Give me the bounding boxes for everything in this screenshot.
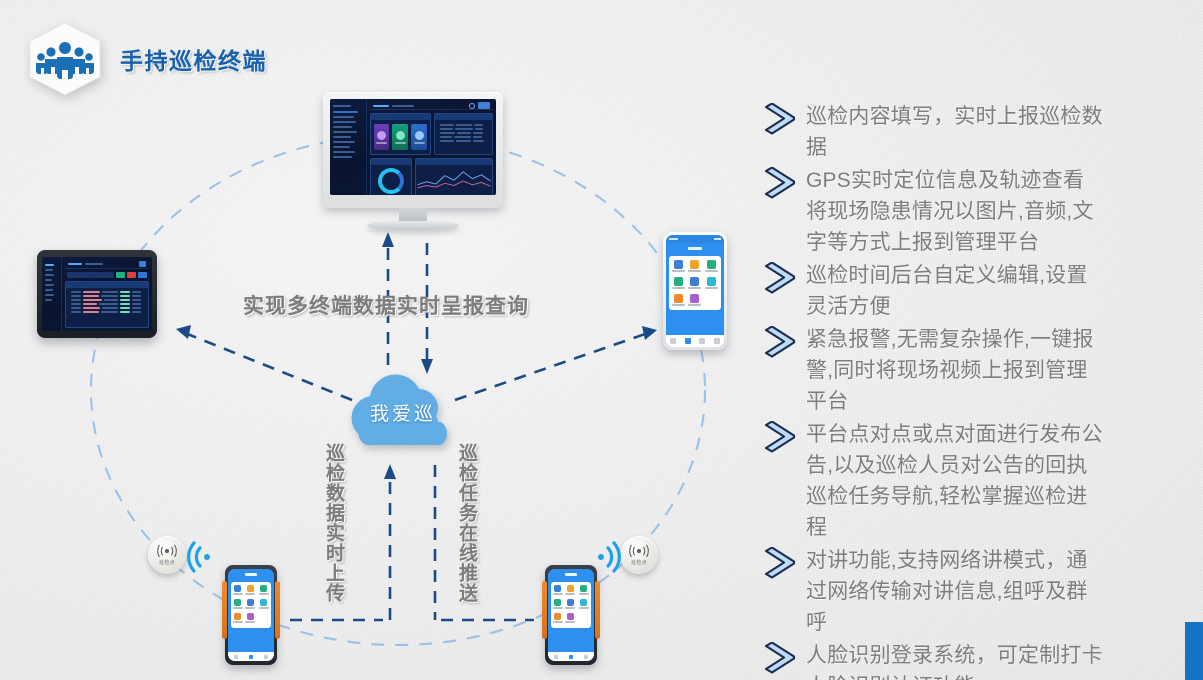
desktop-monitor: [323, 92, 503, 222]
corner-accent-bar: [1185, 622, 1203, 680]
chevron-right-icon: [760, 167, 806, 201]
signal-dot-icon: [627, 544, 651, 558]
chevron-right-icon: [760, 421, 806, 455]
monitor-dashboard-screen: [330, 99, 496, 195]
feature-line: 人脸识别认证功能: [806, 671, 1160, 680]
feature-item: 紧急报警,无需复杂操作,一键报警,同时将现场视频上报到管理平台: [760, 324, 1160, 417]
chevron-right-icon: [760, 262, 806, 296]
rugged-left-screen: [228, 569, 274, 661]
beacon-label: 巡检点: [631, 559, 647, 566]
feature-line: 将现场隐患情况以图片,音频,文: [806, 196, 1160, 227]
feature-text: 紧急报警,无需复杂操作,一键报警,同时将现场视频上报到管理平台: [806, 324, 1160, 417]
slide-canvas: 手持巡检终端: [0, 0, 1203, 680]
smartphone-device: [663, 232, 727, 350]
inspection-point-tag-right: 巡检点: [620, 536, 658, 574]
feature-line: 灵活方便: [806, 291, 1160, 322]
feature-item: 巡检时间后台自定义编辑,设置灵活方便: [760, 260, 1160, 322]
feature-line: 呼: [806, 607, 1160, 638]
feature-text: 巡检内容填写，实时上报巡检数据: [806, 101, 1160, 163]
feature-line: 字等方式上报到管理平台: [806, 227, 1160, 258]
feature-line: 巡检时间后台自定义编辑,设置: [806, 260, 1160, 291]
wifi-wave-icon-left: [186, 540, 220, 574]
feature-item: 平台点对点或点对面进行发布公告,以及巡检人员对公告的回执巡检任务导航,轻松掌握巡…: [760, 419, 1160, 543]
feature-list: 巡检内容填写，实时上报巡检数据 GPS实时定位信息及轨迹查看将现场隐患情况以图片…: [760, 101, 1160, 680]
feature-line: 程: [806, 512, 1160, 543]
rugged-handheld-left: [225, 565, 277, 665]
feature-line: 据: [806, 132, 1160, 163]
feature-item: 对讲功能,支持网络讲模式，通过网络传输对讲信息,组呼及群呼: [760, 545, 1160, 638]
cloud-label: 我爱巡: [343, 399, 463, 426]
feature-text: GPS实时定位信息及轨迹查看将现场隐患情况以图片,音频,文字等方式上报到管理平台: [806, 165, 1160, 258]
feature-item: 巡检内容填写，实时上报巡检数据: [760, 101, 1160, 163]
feature-text: 巡检时间后台自定义编辑,设置灵活方便: [806, 260, 1160, 322]
rugged-handheld-right: [545, 565, 597, 665]
feature-line: 紧急报警,无需复杂操作,一键报: [806, 324, 1160, 355]
link-cloud-phone: [455, 333, 648, 400]
feature-line: 平台: [806, 386, 1160, 417]
beacon-label: 巡检点: [159, 559, 175, 566]
phone-app-grid-screen: [666, 235, 724, 347]
vertical-label-upload: 巡检数据实时上传: [317, 443, 343, 603]
feature-line: 巡检任务导航,轻松掌握巡检进: [806, 481, 1160, 512]
feature-item: 人脸识别登录系统，可定制打卡人脸识别认证功能: [760, 640, 1160, 680]
feature-text: 平台点对点或点对面进行发布公告,以及巡检人员对公告的回执巡检任务导航,轻松掌握巡…: [806, 419, 1160, 543]
feature-text: 对讲功能,支持网络讲模式，通过网络传输对讲信息,组呼及群呼: [806, 545, 1160, 638]
feature-line: 警,同时将现场视频上报到管理: [806, 355, 1160, 386]
inspection-point-tag-left: 巡检点: [148, 536, 186, 574]
tablet-device: [37, 250, 157, 338]
architecture-diagram: 我爱巡 实现多终端数据实时呈报查询 巡检数据实时上传 巡检任务在线推送: [0, 0, 755, 680]
rugged-right-screen: [548, 569, 594, 661]
feature-line: 过网络传输对讲信息,组呼及群: [806, 576, 1160, 607]
chevron-right-icon: [760, 103, 806, 137]
chevron-right-icon: [760, 547, 806, 581]
feature-line: 告,以及巡检人员对公告的回执: [806, 450, 1160, 481]
link-cloud-tablet: [185, 333, 352, 400]
feature-line: GPS实时定位信息及轨迹查看: [806, 165, 1160, 196]
feature-line: 对讲功能,支持网络讲模式，通: [806, 545, 1160, 576]
vertical-label-push: 巡检任务在线推送: [450, 443, 476, 603]
chevron-right-icon: [760, 642, 806, 676]
chevron-right-icon: [760, 326, 806, 360]
feature-text: 人脸识别登录系统，可定制打卡人脸识别认证功能: [806, 640, 1160, 680]
feature-line: 人脸识别登录系统，可定制打卡: [806, 640, 1160, 671]
feature-item: GPS实时定位信息及轨迹查看将现场隐患情况以图片,音频,文字等方式上报到管理平台: [760, 165, 1160, 258]
cloud-platform-icon: 我爱巡: [343, 370, 463, 448]
feature-line: 平台点对点或点对面进行发布公: [806, 419, 1160, 450]
feature-line: 巡检内容填写，实时上报巡检数: [806, 101, 1160, 132]
center-caption: 实现多终端数据实时呈报查询: [243, 290, 529, 320]
signal-dot-icon: [155, 544, 179, 558]
tablet-data-table-screen: [42, 257, 152, 331]
wifi-wave-icon-right: [588, 540, 622, 574]
